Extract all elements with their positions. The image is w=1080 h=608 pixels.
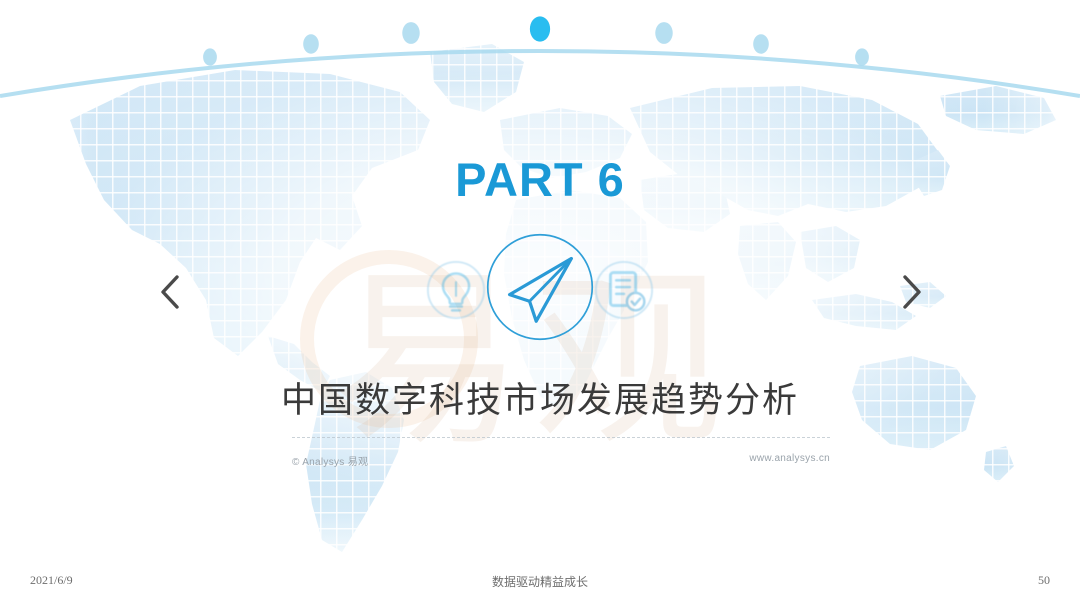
icon-cluster	[425, 238, 655, 348]
progress-arc-svg	[0, 0, 1080, 100]
part-label: PART 6	[0, 152, 1080, 207]
lightbulb-icon	[425, 259, 487, 321]
progress-dot-active[interactable]	[530, 16, 550, 41]
status-page-number: 50	[1038, 573, 1050, 588]
chevron-left-glyph	[157, 272, 183, 312]
arc-line	[0, 51, 1080, 96]
page-title: 中国数字科技市场发展趋势分析	[0, 372, 1080, 423]
progress-dot[interactable]	[303, 34, 319, 54]
title-divider	[292, 437, 830, 438]
slide-statusbar: 2021/6/9 数据驱动精益成长 50	[0, 565, 1080, 608]
progress-arc	[0, 460, 1080, 560]
chevron-left-icon[interactable]	[148, 272, 192, 318]
status-slogan: 数据驱动精益成长	[0, 573, 1080, 590]
progress-dot[interactable]	[655, 22, 672, 44]
progress-dot[interactable]	[402, 22, 419, 44]
paper-plane-icon	[483, 230, 597, 344]
progress-dot[interactable]	[203, 48, 217, 65]
progress-dot[interactable]	[855, 48, 869, 65]
chevron-right-glyph	[899, 272, 925, 312]
slide-canvas: 易观 PART 6 中国数字科技市场发展趋势分析	[0, 0, 1080, 608]
progress-dot[interactable]	[753, 34, 769, 54]
document-check-icon	[593, 259, 655, 321]
chevron-right-icon[interactable]	[890, 272, 934, 318]
